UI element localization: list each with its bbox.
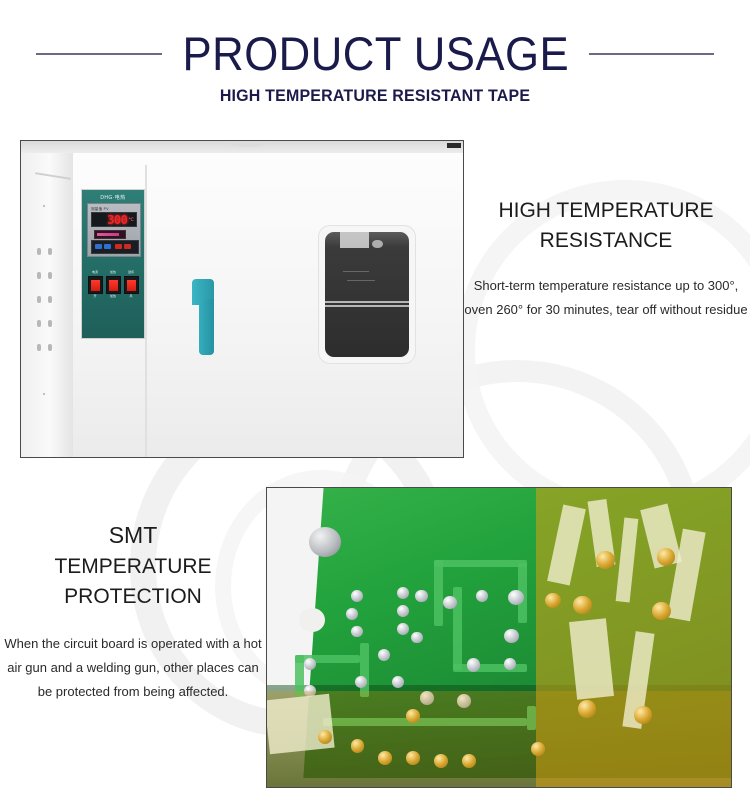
- switch-label-top: 加热: [106, 270, 120, 274]
- taped-solder-pad: [652, 602, 671, 620]
- oven-screw-dot: [43, 205, 45, 207]
- taped-solder-pad: [406, 751, 420, 764]
- section-body: When the circuit board is operated with …: [0, 632, 266, 704]
- keypad-key[interactable]: [124, 244, 131, 249]
- switch-label-top: 电源: [88, 270, 102, 274]
- section-heading-line2: TEMPERATURE: [0, 552, 266, 582]
- setpoint-readout: [94, 230, 126, 239]
- page-header: PRODUCT USAGE HIGH TEMPERATURE RESISTANT…: [0, 0, 750, 125]
- solder-pad: [397, 605, 409, 617]
- switch-label-bottom: 开: [88, 294, 102, 298]
- taped-solder-pad: [573, 596, 592, 614]
- temperature-readout: 300 ℃: [91, 212, 137, 227]
- handle-bar: [199, 299, 214, 355]
- oven-vent-hole: [48, 320, 52, 327]
- smt-temperature-protection-block: SMT TEMPERATURE PROTECTION When the circ…: [0, 518, 266, 704]
- oven-vent-hole: [48, 248, 52, 255]
- oven-door-window: [318, 225, 416, 364]
- keypad-key[interactable]: [104, 244, 111, 249]
- solder-pad: [504, 658, 516, 670]
- window-scuff: [343, 271, 368, 272]
- oven-shelf-line: [325, 301, 409, 303]
- circuit-board-photo: [266, 487, 732, 788]
- oven-controller-display: 测量值 PV 300 ℃: [87, 203, 141, 257]
- taped-solder-pad: [545, 593, 561, 608]
- solder-pad: [476, 590, 488, 602]
- controller-keypad[interactable]: [91, 240, 139, 254]
- fan-rocker-switch[interactable]: [124, 276, 139, 294]
- pcb-trace: [434, 560, 527, 567]
- oven-left-panel: [21, 153, 73, 457]
- oven-vent-hole: [48, 344, 52, 351]
- taped-solder-pad: [434, 754, 448, 767]
- switch-label-top: 鼓风: [124, 270, 138, 274]
- polyimide-tape: [267, 691, 731, 787]
- window-glare: [340, 232, 369, 248]
- page-subtitle: HIGH TEMPERATURE RESISTANT TAPE: [23, 86, 728, 106]
- drying-oven-photo: DHG·电热 测量值 PV 300 ℃: [20, 140, 464, 458]
- temperature-value: 300: [107, 214, 127, 226]
- oven-switch-bank[interactable]: 电源 加热 鼓风 开 加热 风: [86, 270, 140, 304]
- oven-door-handle[interactable]: [192, 279, 216, 355]
- oven-door-seam: [145, 165, 147, 458]
- oven-vent-hole: [37, 272, 41, 279]
- oven-vent-hole: [48, 296, 52, 303]
- solder-pad: [397, 587, 409, 599]
- section-body: Short-term temperature resistance up to …: [462, 274, 750, 322]
- solder-pad: [351, 626, 363, 638]
- oven-window-glass: [325, 232, 409, 357]
- keypad-key[interactable]: [95, 244, 102, 249]
- solder-pad: [397, 623, 409, 635]
- oven-corner-mark: [447, 143, 461, 148]
- taped-solder-pad: [378, 751, 392, 764]
- power-rocker-switch[interactable]: [88, 276, 103, 294]
- taped-solder-pad: [531, 742, 545, 755]
- title-rule-right: [589, 53, 714, 55]
- window-glare: [372, 240, 383, 249]
- oven-shelf-line: [325, 305, 409, 307]
- tape-highlight: [266, 694, 335, 754]
- oven-vent-hole: [48, 272, 52, 279]
- taped-solder-pad: [634, 706, 653, 724]
- pcb-mounting-screw: [309, 527, 341, 557]
- oven-vent-hole: [37, 344, 41, 351]
- oven-control-panel[interactable]: DHG·电热 测量值 PV 300 ℃: [81, 189, 145, 339]
- switch-label-bottom: 加热: [106, 294, 120, 298]
- taped-solder-pad: [596, 551, 615, 569]
- oven-body: DHG·电热 测量值 PV 300 ℃: [73, 153, 463, 457]
- keypad-key[interactable]: [115, 244, 122, 249]
- oven-vent-holes: [37, 248, 65, 368]
- solder-pad: [508, 590, 524, 605]
- pcb-trace: [434, 560, 443, 626]
- high-temperature-resistance-block: HIGH TEMPERATURE RESISTANCE Short-term t…: [462, 196, 750, 322]
- oven-brand-label: DHG·电热: [82, 194, 144, 201]
- solder-pad: [415, 590, 427, 602]
- oven-vent-hole: [37, 248, 41, 255]
- section-heading-line1: SMT: [0, 518, 266, 552]
- switch-label-bottom: 风: [124, 294, 138, 298]
- section-heading-line3: PROTECTION: [0, 582, 266, 612]
- pcb-trace: [453, 664, 527, 671]
- product-usage-page: PRODUCT USAGE HIGH TEMPERATURE RESISTANT…: [0, 0, 750, 811]
- page-title: PRODUCT USAGE: [182, 28, 569, 80]
- pcb-mounting-hole: [299, 608, 325, 632]
- oven-vent-hole: [37, 296, 41, 303]
- taped-solder-pad: [351, 739, 365, 752]
- oven-vent-hole: [37, 320, 41, 327]
- title-row: PRODUCT USAGE: [0, 26, 750, 82]
- setpoint-bar: [97, 233, 119, 236]
- solder-pad: [467, 658, 481, 671]
- taped-solder-pad: [406, 709, 420, 722]
- section-heading: HIGH TEMPERATURE RESISTANCE: [462, 196, 750, 256]
- taped-solder-pad: [318, 730, 332, 743]
- heater-rocker-switch[interactable]: [106, 276, 121, 294]
- oven-screw-dot: [43, 393, 45, 395]
- pcb-trace: [360, 643, 369, 697]
- temperature-unit: ℃: [128, 217, 134, 223]
- taped-solder-pad: [462, 754, 476, 767]
- taped-solder-pad: [657, 548, 676, 566]
- solder-pad: [346, 608, 358, 620]
- solder-pad: [351, 590, 363, 602]
- title-rule-left: [36, 53, 162, 55]
- window-scuff: [347, 280, 376, 281]
